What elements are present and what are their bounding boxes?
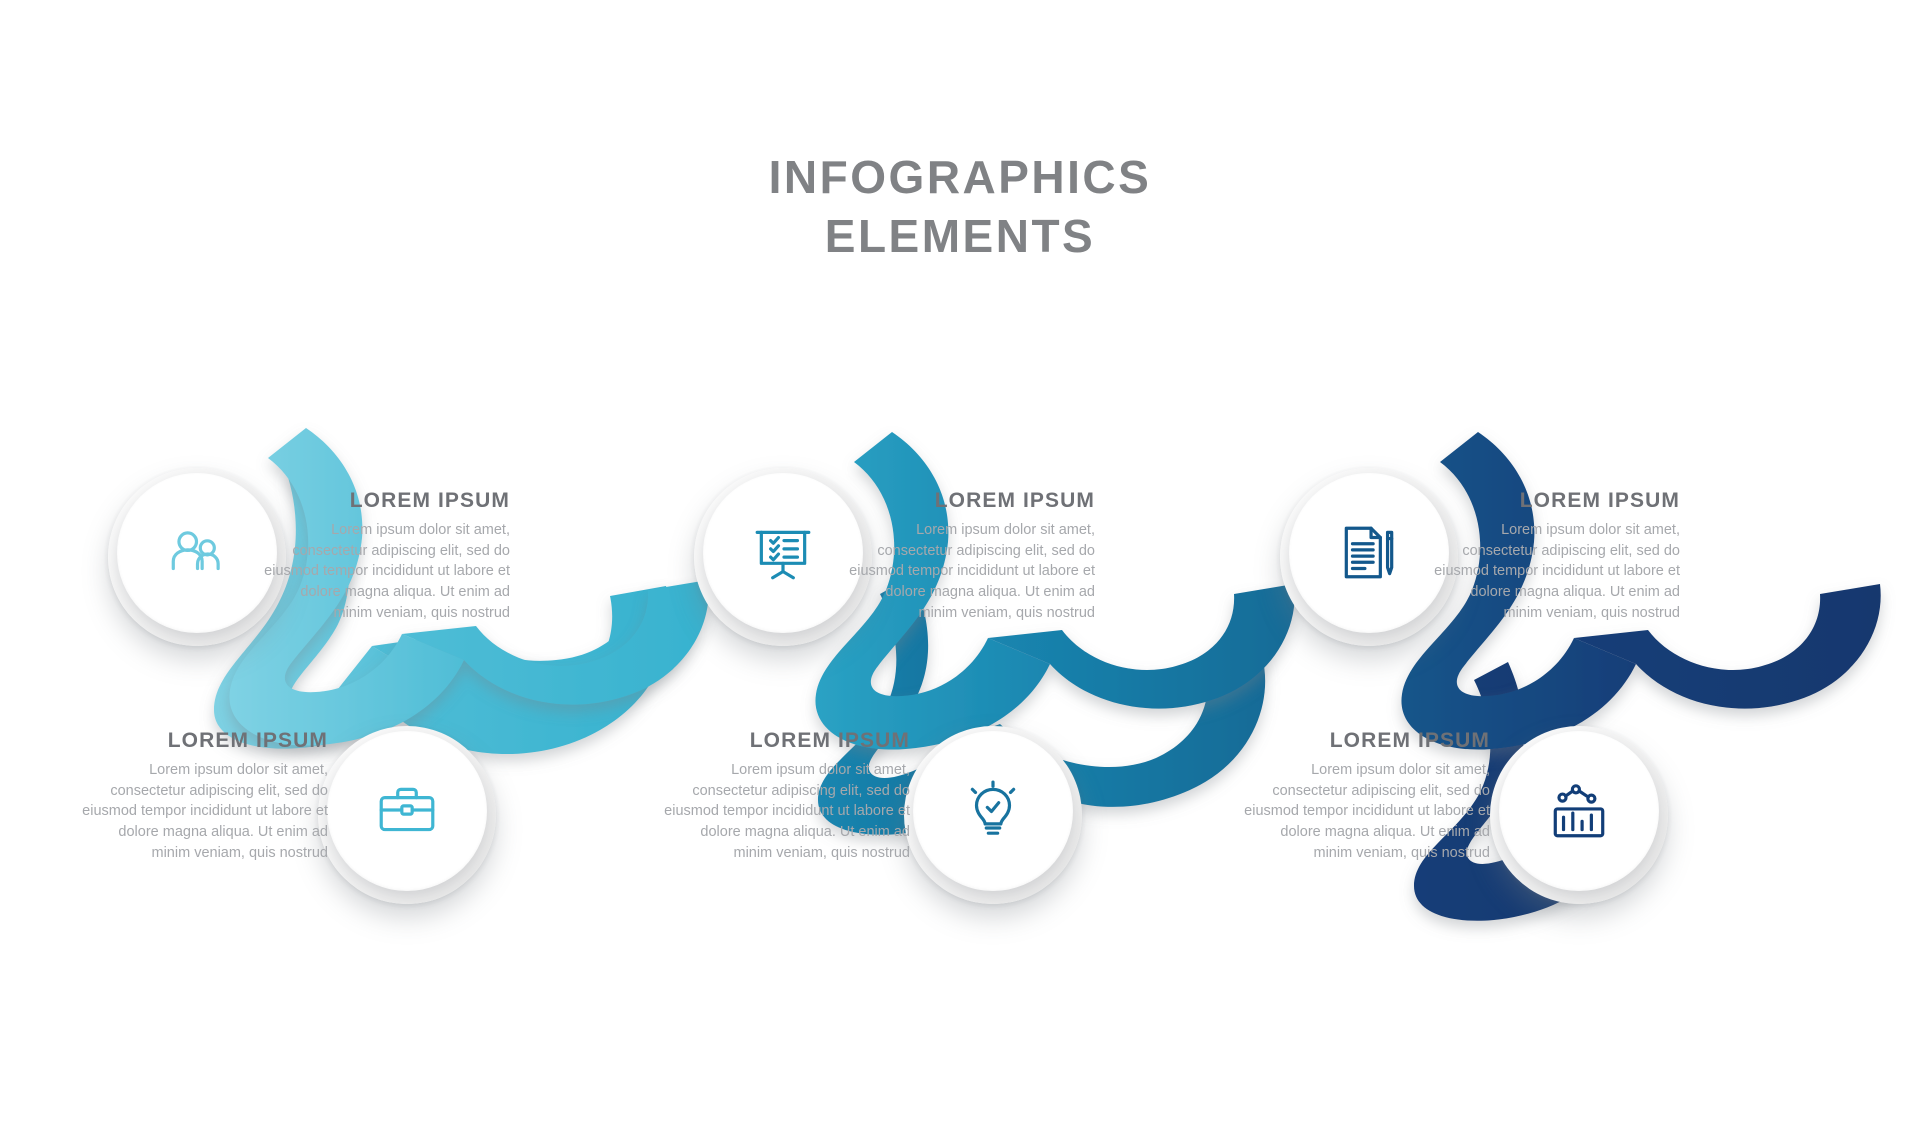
step-body-3: Lorem ipsum dolor sit amet, consectetur … xyxy=(845,520,1095,624)
step-heading-3: LOREM IPSUM xyxy=(845,490,1095,511)
step-heading-4: LOREM IPSUM xyxy=(660,730,910,751)
page-title: INFOGRAPHICS ELEMENTS xyxy=(600,148,1320,266)
title-line-2: ELEMENTS xyxy=(600,207,1320,266)
step-text-5: LOREM IPSUM Lorem ipsum dolor sit amet, … xyxy=(1430,490,1680,624)
circle-disc xyxy=(117,473,277,633)
circle-disc xyxy=(1289,473,1449,633)
circle-disc xyxy=(327,731,487,891)
briefcase-icon xyxy=(374,778,440,844)
circle-disc xyxy=(913,731,1073,891)
presentation-checklist-icon xyxy=(750,520,816,586)
step-body-5: Lorem ipsum dolor sit amet, consectetur … xyxy=(1430,520,1680,624)
infographic-canvas: INFOGRAPHICS ELEMENTS xyxy=(0,0,1920,1144)
step-text-2: LOREM IPSUM Lorem ipsum dolor sit amet, … xyxy=(78,730,328,864)
step-text-6: LOREM IPSUM Lorem ipsum dolor sit amet, … xyxy=(1240,730,1490,864)
step-heading-1: LOREM IPSUM xyxy=(260,490,510,511)
step-body-6: Lorem ipsum dolor sit amet, consectetur … xyxy=(1240,760,1490,864)
circle-disc xyxy=(703,473,863,633)
step-heading-5: LOREM IPSUM xyxy=(1430,490,1680,511)
bar-chart-icon xyxy=(1546,778,1612,844)
step-circle-4[interactable] xyxy=(904,726,1082,904)
title-line-1: INFOGRAPHICS xyxy=(600,148,1320,207)
step-text-4: LOREM IPSUM Lorem ipsum dolor sit amet, … xyxy=(660,730,910,864)
step-body-4: Lorem ipsum dolor sit amet, consectetur … xyxy=(660,760,910,864)
step-circle-2[interactable] xyxy=(318,726,496,904)
step-circle-6[interactable] xyxy=(1490,726,1668,904)
users-icon xyxy=(164,520,230,586)
step-body-1: Lorem ipsum dolor sit amet, consectetur … xyxy=(260,520,510,624)
step-heading-6: LOREM IPSUM xyxy=(1240,730,1490,751)
circle-disc xyxy=(1499,731,1659,891)
step-text-1: LOREM IPSUM Lorem ipsum dolor sit amet, … xyxy=(260,490,510,624)
document-pen-icon xyxy=(1336,520,1402,586)
step-text-3: LOREM IPSUM Lorem ipsum dolor sit amet, … xyxy=(845,490,1095,624)
step-body-2: Lorem ipsum dolor sit amet, consectetur … xyxy=(78,760,328,864)
step-heading-2: LOREM IPSUM xyxy=(78,730,328,751)
lightbulb-check-icon xyxy=(960,778,1026,844)
